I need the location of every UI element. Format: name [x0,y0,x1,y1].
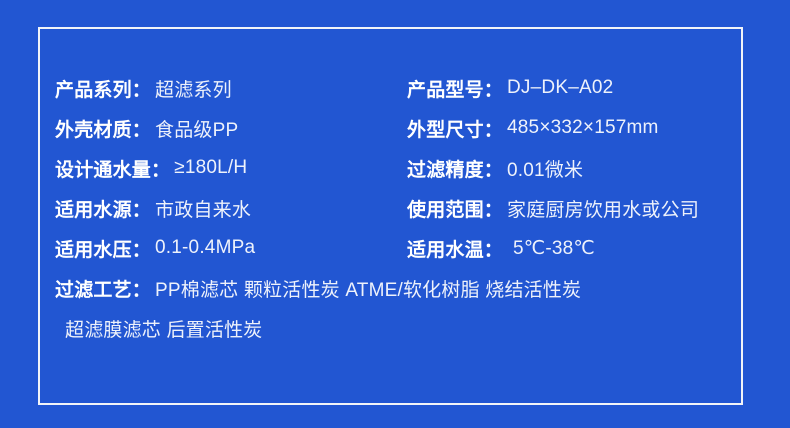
spec-label-usage-scope: 使用范围： [407,195,503,222]
spec-label-product-model: 产品型号： [407,75,503,102]
spec-label-filter-process: 过滤工艺： [55,275,151,302]
filter-process-line-2: 超滤膜滤芯 后置活性炭 [55,308,735,348]
spec-content-area: 产品系列： 超滤系列 外壳材质： 食品级PP 设计通水量： ≥180L/H 适用… [38,27,743,405]
spec-row-water-temperature: 适用水温： 5℃-38℃ [407,228,595,268]
spec-value-product-series: 超滤系列 [155,75,232,102]
spec-row-design-flow: 设计通水量： ≥180L/H [55,148,247,188]
spec-label-water-temperature: 适用水温： [407,235,503,262]
spec-label-product-series: 产品系列： [55,75,151,102]
spec-row-dimensions: 外型尺寸： 485×332×157mm [407,108,659,148]
spec-row-filter-process: 过滤工艺： PP棉滤芯 颗粒活性炭 ATME/软化树脂 烧结活性炭 超滤膜滤芯 … [55,268,735,348]
spec-label-design-flow: 设计通水量： [55,155,170,182]
spec-value-product-model: DJ–DK–A02 [507,77,613,99]
spec-row-filter-precision: 过滤精度： 0.01微米 [407,148,583,188]
spec-row-product-model: 产品型号： DJ–DK–A02 [407,68,613,108]
spec-value-dimensions: 485×332×157mm [507,117,659,139]
spec-value-filter-process-line-1: PP棉滤芯 颗粒活性炭 ATME/软化树脂 烧结活性炭 [155,275,581,302]
spec-value-water-source: 市政自来水 [155,195,251,222]
spec-label-water-source: 适用水源： [55,195,151,222]
spec-value-water-pressure: 0.1-0.4MPa [155,237,255,259]
spec-label-shell-material: 外壳材质： [55,115,151,142]
spec-value-filter-precision: 0.01微米 [507,155,583,182]
spec-row-usage-scope: 使用范围： 家庭厨房饮用水或公司 [407,188,699,228]
spec-value-usage-scope: 家庭厨房饮用水或公司 [507,195,699,222]
spec-label-dimensions: 外型尺寸： [407,115,503,142]
spec-row-product-series: 产品系列： 超滤系列 [55,68,232,108]
spec-value-filter-process-line-2: 超滤膜滤芯 后置活性炭 [65,315,262,342]
spec-row-water-pressure: 适用水压： 0.1-0.4MPa [55,228,255,268]
product-spec-panel: 产品系列： 超滤系列 外壳材质： 食品级PP 设计通水量： ≥180L/H 适用… [0,0,790,428]
filter-process-line-1: 过滤工艺： PP棉滤芯 颗粒活性炭 ATME/软化树脂 烧结活性炭 [55,268,735,308]
spec-label-filter-precision: 过滤精度： [407,155,503,182]
spec-value-design-flow: ≥180L/H [174,157,247,179]
spec-row-water-source: 适用水源： 市政自来水 [55,188,251,228]
spec-label-water-pressure: 适用水压： [55,235,151,262]
spec-value-water-temperature: 5℃-38℃ [513,237,595,260]
spec-value-shell-material: 食品级PP [155,115,238,142]
spec-row-shell-material: 外壳材质： 食品级PP [55,108,238,148]
